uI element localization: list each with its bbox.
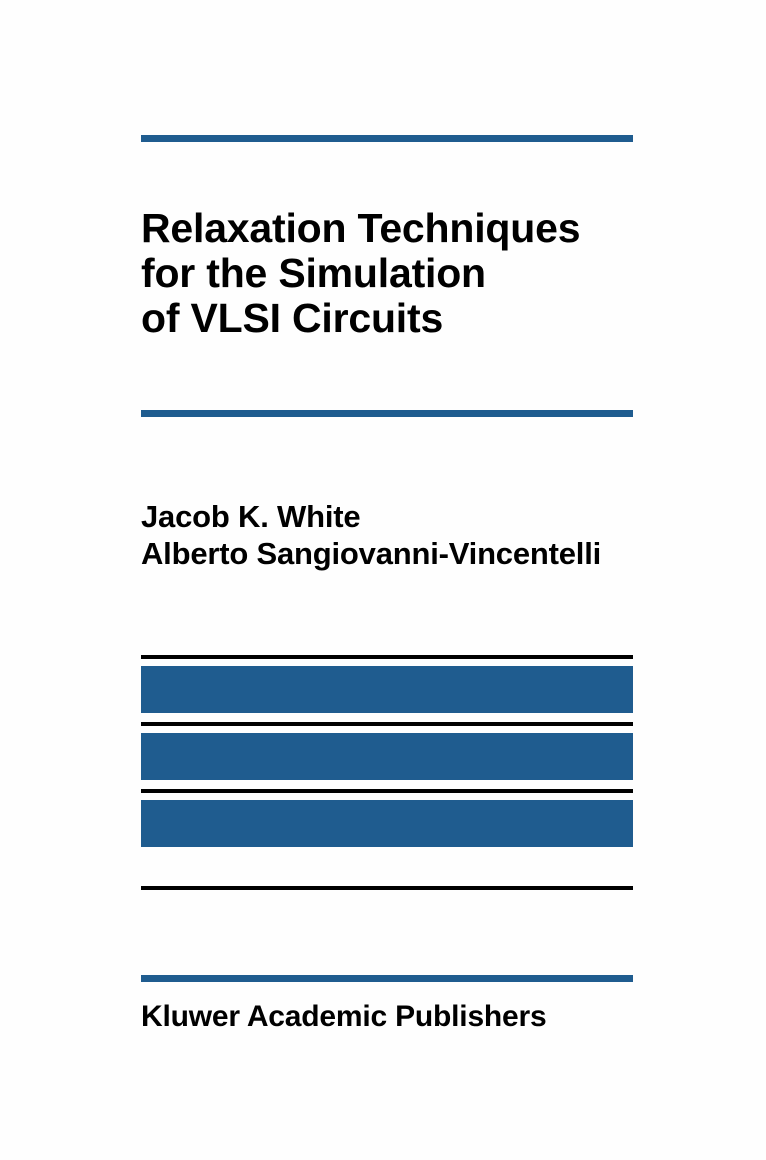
decor-hairline-4: [141, 886, 633, 890]
publisher: Kluwer Academic Publishers: [141, 1000, 633, 1034]
author-name-2: Alberto Sangiovanni-Vincentelli: [141, 535, 633, 572]
title-line-3: of VLSI Circuits: [141, 296, 633, 341]
decor-spacer: [141, 726, 633, 733]
book-cover: Relaxation Techniques for the Simulation…: [0, 0, 766, 1160]
title-bottom-rule: [141, 410, 633, 417]
decor-spacer: [141, 793, 633, 800]
decor-spacer: [141, 847, 633, 856]
title-top-rule: [141, 135, 633, 142]
decor-bar-3: [141, 800, 633, 847]
decor-bar-1: [141, 666, 633, 713]
decor-bar-2: [141, 733, 633, 780]
title-line-2: for the Simulation: [141, 251, 633, 296]
author-name-1: Jacob K. White: [141, 498, 633, 535]
title-line-1: Relaxation Techniques: [141, 206, 633, 251]
book-title: Relaxation Techniques for the Simulation…: [141, 206, 633, 341]
decor-spacer: [141, 713, 633, 722]
publisher-top-rule: [141, 975, 633, 982]
decorative-band-stack: [141, 655, 633, 890]
decor-spacer: [141, 659, 633, 666]
author-list: Jacob K. White Alberto Sangiovanni-Vince…: [141, 498, 633, 572]
decor-spacer: [141, 780, 633, 789]
decor-spacer: [141, 856, 633, 886]
publisher-name: Kluwer Academic Publishers: [141, 1000, 633, 1034]
